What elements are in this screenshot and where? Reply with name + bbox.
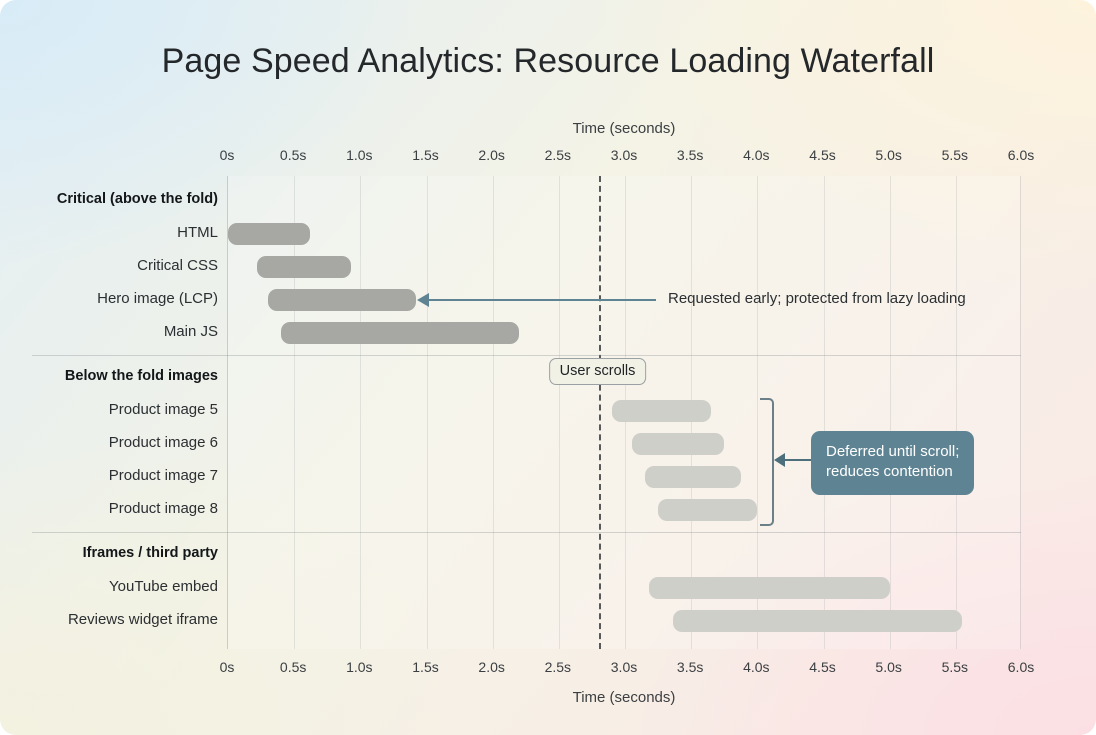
x-axis-title-top: Time (seconds) — [227, 120, 1021, 137]
annotation-arrowhead-deferred — [774, 453, 785, 467]
row-label: Product image 6 — [8, 434, 218, 451]
waterfall-bar[interactable] — [632, 433, 725, 455]
row-label: Product image 7 — [8, 467, 218, 484]
user-scrolls-marker-line — [599, 176, 601, 649]
user-scrolls-marker-label: User scrolls — [549, 358, 647, 385]
row-label: YouTube embed — [8, 578, 218, 595]
waterfall-bar[interactable] — [228, 223, 310, 245]
gridline — [559, 176, 560, 649]
annotation-deferred-line2: reduces contention — [826, 462, 959, 482]
row-label: Main JS — [8, 323, 218, 340]
row-label: Reviews widget iframe — [8, 611, 218, 628]
x-tick-label: 0.5s — [280, 147, 306, 163]
row-label: Hero image (LCP) — [8, 290, 218, 307]
x-tick-label: 6.0s — [1008, 147, 1034, 163]
gridline — [360, 176, 361, 649]
x-tick-label: 4.0s — [743, 659, 769, 675]
x-tick-label: 0s — [220, 147, 235, 163]
deferred-group-bracket — [760, 398, 774, 526]
waterfall-bar[interactable] — [612, 400, 711, 422]
x-tick-label: 1.5s — [412, 147, 438, 163]
x-tick-label: 1.0s — [346, 659, 372, 675]
x-tick-label: 5.0s — [875, 147, 901, 163]
group-separator — [32, 532, 1021, 533]
waterfall-bar[interactable] — [268, 289, 416, 311]
x-tick-label: 3.5s — [677, 659, 703, 675]
waterfall-bar[interactable] — [281, 322, 519, 344]
waterfall-bar[interactable] — [673, 610, 963, 632]
x-tick-label: 3.5s — [677, 147, 703, 163]
row-label: Product image 8 — [8, 500, 218, 517]
annotation-text-critical: Requested early; protected from lazy loa… — [668, 290, 966, 307]
row-label: HTML — [8, 224, 218, 241]
x-axis-title-bottom: Time (seconds) — [227, 689, 1021, 706]
x-tick-label: 5.5s — [942, 147, 968, 163]
x-tick-label: 6.0s — [1008, 659, 1034, 675]
x-axis-ticks-top: 0s0.5s1.0s1.5s2.0s2.5s3.0s3.5s4.0s4.5s5.… — [227, 147, 1021, 165]
group-heading: Iframes / third party — [8, 545, 218, 561]
waterfall-bar[interactable] — [645, 466, 742, 488]
row-label: Critical CSS — [8, 257, 218, 274]
x-tick-label: 2.0s — [478, 147, 504, 163]
annotation-leader-critical — [428, 299, 656, 301]
annotation-leader-deferred — [785, 459, 811, 461]
x-tick-label: 4.0s — [743, 147, 769, 163]
row-label: Product image 5 — [8, 401, 218, 418]
chart-canvas: Page Speed Analytics: Resource Loading W… — [0, 0, 1096, 735]
x-tick-label: 2.5s — [545, 147, 571, 163]
waterfall-bar[interactable] — [649, 577, 890, 599]
annotation-box-deferred: Deferred until scroll; reduces contentio… — [811, 431, 974, 495]
annotation-deferred-line1: Deferred until scroll; — [826, 442, 959, 462]
group-separator — [32, 355, 1021, 356]
x-tick-label: 2.0s — [478, 659, 504, 675]
x-tick-label: 2.5s — [545, 659, 571, 675]
x-tick-label: 1.0s — [346, 147, 372, 163]
gridline — [427, 176, 428, 649]
x-tick-label: 3.0s — [611, 147, 637, 163]
x-tick-label: 5.5s — [942, 659, 968, 675]
group-heading: Below the fold images — [8, 368, 218, 384]
x-tick-label: 0s — [220, 659, 235, 675]
x-tick-label: 3.0s — [611, 659, 637, 675]
group-heading: Critical (above the fold) — [8, 191, 218, 207]
gridline — [956, 176, 957, 649]
x-tick-label: 4.5s — [809, 147, 835, 163]
gridline — [890, 176, 891, 649]
row-label-column: Critical (above the fold)HTMLCritical CS… — [0, 0, 218, 735]
x-axis-ticks-bottom: 0s0.5s1.0s1.5s2.0s2.5s3.0s3.5s4.0s4.5s5.… — [227, 659, 1021, 677]
plot-area — [227, 176, 1021, 649]
x-tick-label: 5.0s — [875, 659, 901, 675]
waterfall-bar[interactable] — [257, 256, 351, 278]
waterfall-bar[interactable] — [658, 499, 757, 521]
x-tick-label: 4.5s — [809, 659, 835, 675]
gridline — [493, 176, 494, 649]
gridline — [294, 176, 295, 649]
x-tick-label: 0.5s — [280, 659, 306, 675]
x-tick-label: 1.5s — [412, 659, 438, 675]
